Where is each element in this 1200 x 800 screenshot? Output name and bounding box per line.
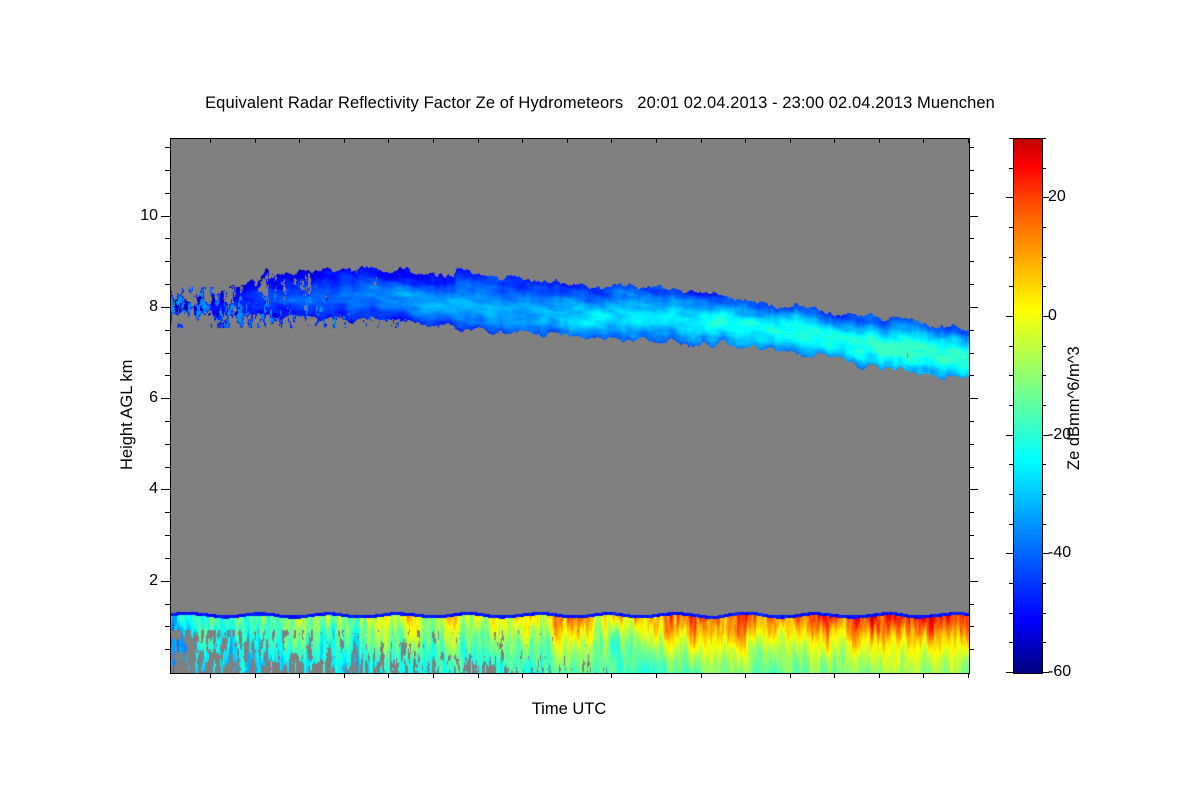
y-tick-label-4: 4 [118,481,158,497]
x-tick-top-1360 [879,138,880,143]
y-tick-right-8.5 [969,284,974,285]
colorbar-tick-label--60: -60 [1048,664,1071,680]
colorbar-tick-label-0: 0 [1048,308,1057,324]
x-tick-1370 [923,673,924,678]
y-tick-right-5 [969,444,974,445]
x-tick-1220 [255,673,256,678]
y-tick-right-10 [969,216,978,217]
y-tick-4 [161,489,170,490]
colorbar-tick-25 [1009,168,1013,169]
y-tick-2 [161,581,170,582]
x-tick-top-1290 [567,138,568,143]
plot-area [170,138,970,674]
colorbar-tick-15 [1009,227,1013,228]
colorbar-tick--50 [1042,613,1046,614]
colorbar-tick--5 [1042,346,1046,347]
y-tick-3.5 [165,512,170,513]
y-tick-right-11 [969,170,974,171]
colorbar-tick--60 [1006,672,1013,673]
colorbar-tick--45 [1009,583,1013,584]
y-tick-right-10.5 [969,193,974,194]
x-tick-top-1230 [299,138,300,143]
y-tick-5 [165,444,170,445]
y-tick-right-11.5 [969,147,974,148]
x-tick-top-1350 [834,138,835,143]
y-tick-right-0.5 [969,649,974,650]
x-tick-top-1270 [478,138,479,143]
y-tick-7.5 [165,330,170,331]
y-tick-right-6.5 [969,375,974,376]
y-tick-1 [165,626,170,627]
y-tick-5.5 [165,421,170,422]
x-tick-1260 [433,673,434,678]
colorbar-tick--35 [1009,524,1013,525]
x-tick-top-1280 [522,138,523,143]
y-tick-3 [165,535,170,536]
y-tick-right-5.5 [969,421,974,422]
y-tick-right-7.5 [969,330,974,331]
colorbar-tick-30 [1009,138,1013,139]
x-tick-1230 [299,673,300,678]
y-tick-right-7 [969,353,974,354]
y-tick-6 [161,398,170,399]
y-tick-right-4 [969,489,978,490]
colorbar-tick--15 [1009,405,1013,406]
y-tick-6.5 [165,375,170,376]
colorbar-tick--15 [1042,405,1046,406]
y-tick-right-2.5 [969,558,974,559]
radar-reflectivity-figure: Equivalent Radar Reflectivity Factor Ze … [0,0,1200,800]
colorbar-tick--40 [1006,553,1013,554]
colorbar [1013,138,1043,674]
colorbar-tick-10 [1042,257,1046,258]
colorbar-tick--25 [1009,464,1013,465]
x-tick-top-1220 [255,138,256,143]
y-tick-right-3.5 [969,512,974,513]
colorbar-tick--5 [1009,346,1013,347]
colorbar-tick--35 [1042,524,1046,525]
colorbar-tick--50 [1009,613,1013,614]
x-tick-1240 [344,673,345,678]
x-tick-top-1370 [923,138,924,143]
x-tick-1270 [478,673,479,678]
colorbar-tick-25 [1042,168,1046,169]
chart-title: Equivalent Radar Reflectivity Factor Ze … [0,94,1200,113]
y-tick-2.5 [165,558,170,559]
x-tick-top-1340 [790,138,791,143]
colorbar-tick-10 [1009,257,1013,258]
colorbar-tick--25 [1042,464,1046,465]
x-tick-1360 [879,673,880,678]
x-tick-1300 [611,673,612,678]
y-tick-4.5 [165,467,170,468]
x-tick-top-1300 [611,138,612,143]
y-axis-title: Height AGL km [118,360,137,470]
y-tick-11 [165,170,170,171]
y-tick-9 [165,261,170,262]
x-tick-1290 [567,673,568,678]
x-tick-top-1250 [388,138,389,143]
y-tick-right-2 [969,581,978,582]
colorbar-tick--55 [1009,642,1013,643]
y-tick-10.5 [165,193,170,194]
colorbar-tick--30 [1042,494,1046,495]
y-tick-8.5 [165,284,170,285]
colorbar-tick--45 [1042,583,1046,584]
reflectivity-heatmap [171,139,969,673]
y-tick-label-2: 2 [118,573,158,589]
y-tick-right-9.5 [969,238,974,239]
colorbar-tick-20 [1006,197,1013,198]
x-tick-1380 [968,673,969,678]
x-tick-top-1260 [433,138,434,143]
colorbar-tick--55 [1042,642,1046,643]
colorbar-tick--10 [1009,375,1013,376]
colorbar-tick--20 [1006,435,1013,436]
colorbar-tick-15 [1042,227,1046,228]
x-tick-top-1210 [210,138,211,143]
colorbar-tick-5 [1042,286,1046,287]
y-tick-7 [165,353,170,354]
colorbar-tick--10 [1042,375,1046,376]
x-tick-1210 [210,673,211,678]
colorbar-tick-label--40: -40 [1048,545,1071,561]
colorbar-tick-30 [1042,138,1046,139]
x-tick-top-1320 [701,138,702,143]
y-tick-right-3 [969,535,974,536]
y-tick-right-1 [969,626,974,627]
x-tick-top-1380 [968,138,969,143]
x-tick-1330 [745,673,746,678]
y-tick-8 [161,307,170,308]
colorbar-title: Ze dBmm^6/m^3 [1065,346,1084,470]
colorbar-tick-label-20: 20 [1048,189,1066,205]
x-tick-top-1310 [656,138,657,143]
y-tick-right-1.5 [969,604,974,605]
y-tick-1.5 [165,604,170,605]
x-tick-top-1330 [745,138,746,143]
y-tick-0.5 [165,649,170,650]
y-tick-label-10: 10 [118,208,158,224]
x-tick-1350 [834,673,835,678]
x-tick-1280 [522,673,523,678]
y-tick-9.5 [165,238,170,239]
colorbar-tick-5 [1009,286,1013,287]
y-tick-10 [161,216,170,217]
y-tick-right-9 [969,261,974,262]
x-axis-title: Time UTC [170,700,968,719]
x-tick-1250 [388,673,389,678]
x-tick-1320 [701,673,702,678]
x-tick-1310 [656,673,657,678]
y-tick-right-6 [969,398,978,399]
y-tick-label-8: 8 [118,299,158,315]
x-tick-1340 [790,673,791,678]
colorbar-tick--30 [1009,494,1013,495]
x-tick-top-1240 [344,138,345,143]
y-tick-right-8 [969,307,978,308]
colorbar-tick-0 [1006,316,1013,317]
y-tick-right-4.5 [969,467,974,468]
y-tick-11.5 [165,147,170,148]
